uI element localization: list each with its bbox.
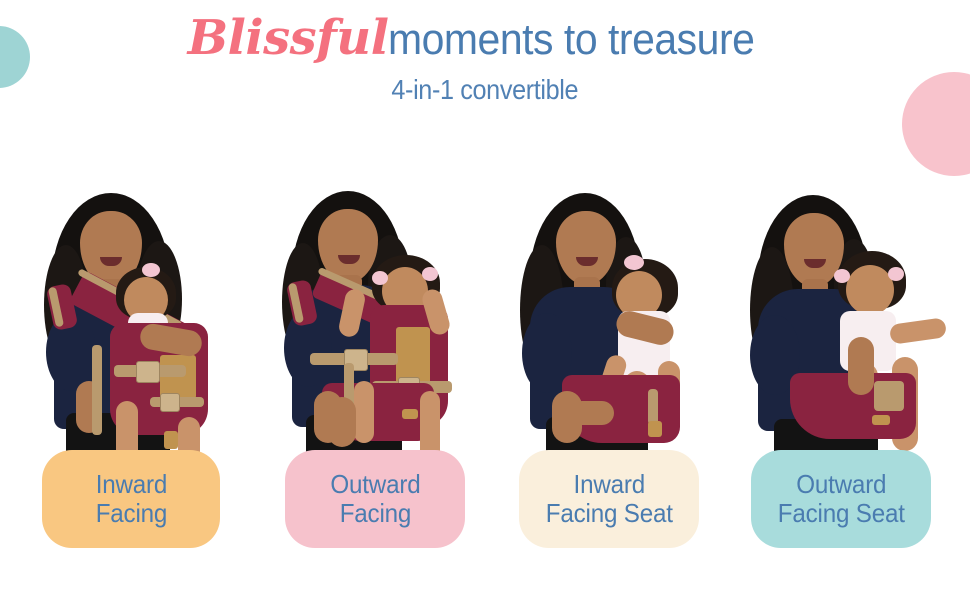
product-photo-inward-facing — [32, 185, 232, 475]
page-subtitle: 4-in-1 convertible — [392, 74, 579, 106]
product-photo-inward-facing-seat — [508, 185, 708, 475]
mode-label-inward-facing[interactable]: Inward Facing — [42, 450, 220, 548]
subtitle-wrap: 4-in-1 convertible — [0, 62, 970, 106]
mode-label-text: Inward Facing — [95, 470, 166, 528]
mode-label-outward-facing[interactable]: Outward Facing — [285, 450, 465, 548]
product-photo-outward-facing-seat — [742, 185, 960, 475]
mode-label-text: Outward Facing — [330, 470, 420, 528]
page-title: Blissful moments to treasure — [0, 14, 970, 62]
product-photo-outward-facing — [268, 185, 473, 475]
banner-header: Blissful moments to treasure 4-in-1 conv… — [0, 14, 970, 106]
title-script-word: Blissful — [188, 10, 389, 66]
mode-label-inward-facing-seat[interactable]: Inward Facing Seat — [519, 450, 699, 548]
mode-label-outward-facing-seat[interactable]: Outward Facing Seat — [751, 450, 931, 548]
title-plain-text: moments to treasure — [388, 18, 754, 62]
promo-banner: Blissful moments to treasure 4-in-1 conv… — [0, 0, 970, 600]
mode-label-text: Inward Facing Seat — [545, 470, 672, 528]
mode-label-text: Outward Facing Seat — [777, 470, 904, 528]
mode-label-row: Inward Facing Outward Facing Inward Faci… — [0, 450, 970, 560]
product-photo-row — [0, 185, 970, 475]
